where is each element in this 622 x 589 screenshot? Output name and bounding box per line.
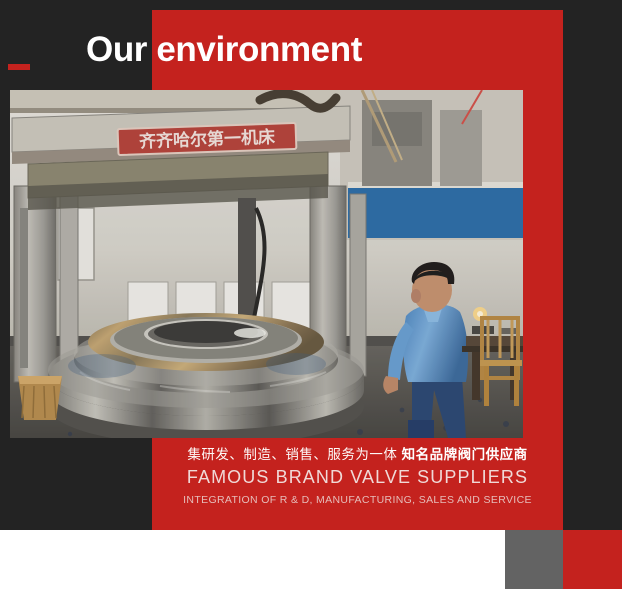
- factory-photo-illustration: 齐齐哈尔第一机床: [10, 90, 523, 438]
- bottom-red-block: [563, 530, 622, 589]
- environment-photo: 齐齐哈尔第一机床: [10, 90, 523, 438]
- red-dash-accent: [8, 64, 30, 70]
- caption-english-sub: INTEGRATION OF R & D, MANUFACTURING, SAL…: [152, 493, 563, 507]
- caption-block: 集研发、制造、销售、服务为一体 知名品牌阀门供应商 FAMOUS BRAND V…: [152, 445, 563, 507]
- caption-chinese-light: 集研发、制造、销售、服务为一体: [187, 447, 397, 463]
- page-title: Our environment: [86, 26, 546, 74]
- bottom-gray-block: [505, 530, 563, 589]
- environment-banner: Our environment: [0, 0, 622, 589]
- caption-chinese-bold: 知名品牌阀门供应商: [402, 447, 528, 463]
- caption-chinese-line: 集研发、制造、销售、服务为一体 知名品牌阀门供应商: [152, 445, 563, 465]
- caption-english-main: FAMOUS BRAND VALVE SUPPLIERS: [152, 467, 563, 488]
